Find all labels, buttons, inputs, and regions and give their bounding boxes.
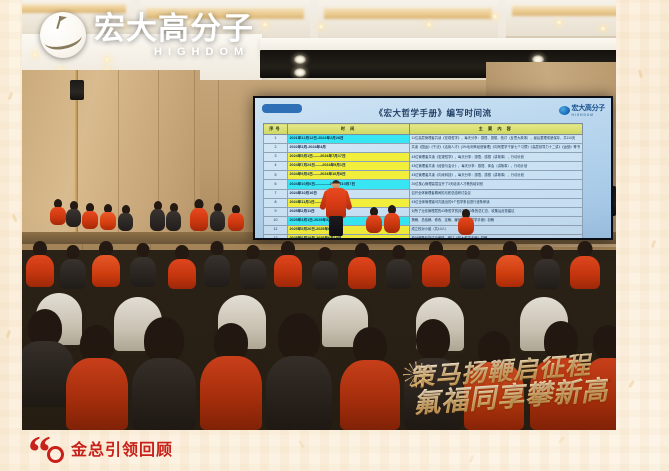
person-jacket [66,209,81,227]
ceiling-cove-light [512,6,616,16]
person-head [67,245,80,259]
paper-fleck [558,436,565,444]
person-jacket [66,358,128,430]
audience-person [118,205,133,231]
table-row: 52024年9月4日——2024年10月8日43位管理者共读《向米科技》，每天分… [264,171,583,180]
downlight [556,20,562,25]
person-jacket [132,358,196,430]
cell-content: 43位管理者共读《经营与会计》，每天分享：感悟、体会（讲故事），行动计划 [410,162,583,171]
ceiling-spotlight [294,55,306,64]
cell-index: 1 [264,135,288,144]
slide-logo-sub: HIGHDOM [572,113,606,117]
person-head [416,319,450,359]
person-head [144,317,184,363]
person-jacket [534,259,560,289]
slide-logo: 宏大高分子 HIGHDOM [559,103,606,117]
cell-date: 2022年3月-2024年4月 [288,144,410,153]
slide-logo-text: 宏大高分子 HIGHDOM [572,103,606,117]
paper-fleck [8,92,14,101]
person-jacket [210,211,225,231]
ceiling-spotlight [294,68,306,77]
audience-person [200,323,262,430]
audience-person [204,241,230,287]
cell-index: 3 [264,153,288,162]
person-head [578,241,593,257]
person-jacket [168,259,196,289]
audience-person [60,245,86,289]
audience-person [384,205,400,233]
downlight [318,24,324,29]
paper-fleck [298,440,305,448]
person-jacket [228,213,244,231]
person-jacket [200,356,262,430]
person-head [247,245,260,259]
cell-content: 43位管理者共读《向米科技》，每天分享：感悟、感想（讲故事），行动计划 [410,171,583,180]
audience-person [92,241,120,287]
person-head [175,245,189,260]
table-row: 72024年10月16日召开全体管理者期间的月底总结研讨会议 [264,189,583,198]
brand-wordmark: 宏大高分子 HIGHDOM [94,13,254,58]
paper-fleck [638,70,643,79]
person-jacket [26,255,54,287]
person-head [467,245,480,259]
audience-person [26,241,54,287]
person-head [33,241,47,256]
person-head [211,241,224,255]
paper-fleck [651,240,657,249]
audience-person [82,203,98,229]
person-jacket [240,259,266,289]
downlight [492,14,498,19]
audience-person [458,209,474,235]
ceiling-cove-light [324,8,492,19]
person-head [278,313,320,361]
person-jacket [130,257,156,287]
th-content: 主 要 内 容 [410,124,583,135]
person-head [393,245,406,259]
th-date: 时 间 [288,124,410,135]
person-head [541,245,554,259]
audience-person [210,203,225,231]
paper-fleck [12,214,18,223]
cell-index: 2 [264,144,288,153]
audience-person [534,245,560,289]
person-jacket [340,360,400,430]
person-jacket [386,259,412,289]
table-row: 62024年10月6日————2024年10月7日20位核心管理高层召开了3天培… [264,180,583,189]
person-jacket [166,211,181,231]
audience-person [168,245,196,289]
person-head [137,243,150,257]
person-head [355,243,369,258]
person-jacket [50,207,66,225]
table-header-row: 序号 时 间 主 要 内 容 [264,124,583,135]
ceiling-coffer [318,0,498,42]
person-jacket [422,255,450,287]
audience-person [366,207,382,233]
brand-logo: 宏大高分子 HIGHDOM [40,12,254,58]
person-jacket [274,255,302,287]
audience-person [570,241,600,289]
cell-index: 6 [264,180,288,189]
audience-person [50,199,66,225]
cell-content: 召开全体管理者期间的月底总结研讨会议 [410,189,583,198]
slide-logo-name: 宏大高分子 [572,105,606,112]
audience-person [386,245,412,289]
audience-person [348,243,376,289]
audience-person [312,247,338,289]
photo-caption: “ 金总引领回顾 [28,433,173,463]
wall-speaker [70,80,84,100]
person-head [429,241,443,256]
cell-date: 2024年5月1日——2024年7月17日 [288,153,410,162]
cell-content: 11位高层管理者共读《宏观哲学》，每天分享：感悟、感想、检讨（反思大故事），最后… [410,135,583,144]
cell-index: 7 [264,189,288,198]
paper-fleck [469,455,475,464]
person-jacket [118,213,133,231]
table-row: 32024年5月1日——2024年7月17日43位管理者共读《宏观哲学》，每天分… [264,153,583,162]
person-jacket [460,259,486,289]
person-head [319,247,332,261]
audience-person [150,201,165,231]
paper-fleck [6,330,12,339]
logo-swoosh [42,25,83,52]
audience-person [130,243,156,287]
downlight [426,22,432,27]
person-jacket [384,213,400,233]
quote-mark-icon: “ [28,433,62,463]
cell-date: 2024年7月24日——2024年9月1日 [288,162,410,171]
person-jacket [92,255,120,287]
person-jacket [150,209,165,231]
downlight [262,22,268,27]
event-photo: 《宏大哲学手册》编写时间流 宏大高分子 HIGHDOM 序号 时 间 主 要 内… [22,0,616,430]
audience-person [240,245,266,289]
audience-person [266,313,332,430]
audience-person [190,199,208,231]
person-jacket [496,255,524,287]
th-index: 序号 [264,124,288,135]
audience-person [460,245,486,289]
person-head [281,241,295,256]
logo-flag [59,16,67,22]
person-jacket [348,257,376,289]
person-jacket [100,212,116,230]
person-jacket [204,255,230,287]
audience-person [496,241,524,287]
audience-person [274,241,302,287]
person-jacket [366,215,382,233]
downlight [32,52,38,57]
table-row: 22022年3月-2024年4月共读《国运》《干法》《活用人才》(3%毛利率经营… [264,144,583,153]
highdom-blue-logo-icon [559,106,570,115]
quote-dot [47,446,64,463]
person-jacket [266,356,332,430]
audience-person [422,241,450,287]
cell-date: 2024年9月4日——2024年10月8日 [288,171,410,180]
cell-content: 43位管理者共读《宏观哲学》，每天分享：感悟、感想（讲故事），行动计划 [410,153,583,162]
audience-person [66,201,81,227]
person-head [99,241,113,256]
table-row: 42024年7月24日——2024年9月1日43位管理者共读《经营与会计》，每天… [264,162,583,171]
person-jacket [458,217,474,235]
audience-person [228,205,244,231]
table-row: 12021年12月12日-2022年2月28日11位高层管理者共读《宏观哲学》，… [264,135,583,144]
cell-content: 20位核心管理高层召开了3天培训人才教的培训班 [410,180,583,189]
person-head [503,241,517,256]
highdom-orb-logo-icon [40,12,86,58]
poster-page: 《宏大哲学手册》编写时间流 宏大高分子 HIGHDOM 序号 时 间 主 要 内… [0,0,669,471]
cell-content: 共读《国运》《干法》《活用人才》(3%毛利率经营管理)《向阿里学干部七个习惯》《… [410,144,583,153]
person-jacket [312,261,338,289]
brand-name-cn: 宏大高分子 [94,13,254,44]
audience-person [132,317,196,430]
audience-person [66,325,128,430]
cell-index: 5 [264,171,288,180]
person-jacket [190,208,208,231]
person-jacket [60,259,86,289]
cell-index: 4 [264,162,288,171]
person-jacket [570,256,600,289]
downlight [600,26,606,31]
audience-person [166,203,181,231]
audience-person [100,204,116,230]
brand-name-en: HIGHDOM [94,47,254,58]
person-jacket [82,211,98,229]
caption-text: 金总引领回顾 [71,436,173,460]
paper-fleck [628,380,635,388]
audience-person [340,327,400,430]
cell-date: 2021年12月12日-2022年2月28日 [288,135,410,144]
